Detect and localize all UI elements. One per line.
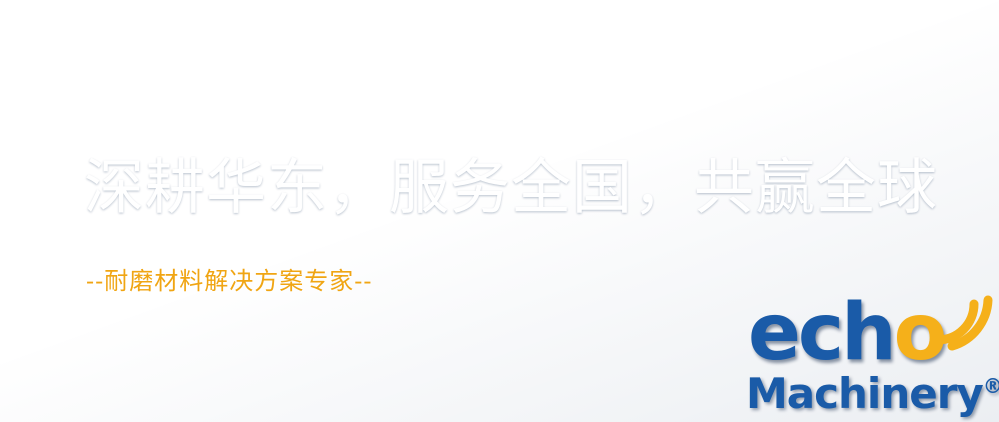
logo-subwordmark-text: Machinery xyxy=(746,369,983,418)
logo-wordmark: echo xyxy=(748,294,944,372)
echo-machinery-logo[interactable]: echo Machinery® xyxy=(742,296,994,418)
banner-subtitle: --耐磨材料解决方案专家-- xyxy=(86,266,372,296)
logo-subwordmark: Machinery® xyxy=(746,364,999,416)
echo-wave-icon xyxy=(928,290,994,356)
hero-banner: 深耕华东，服务全国，共赢全球 --耐磨材料解决方案专家-- echo Machi… xyxy=(0,0,999,422)
banner-headline: 深耕华东，服务全国，共赢全球 xyxy=(84,154,938,222)
registered-trademark-icon: ® xyxy=(983,374,999,398)
